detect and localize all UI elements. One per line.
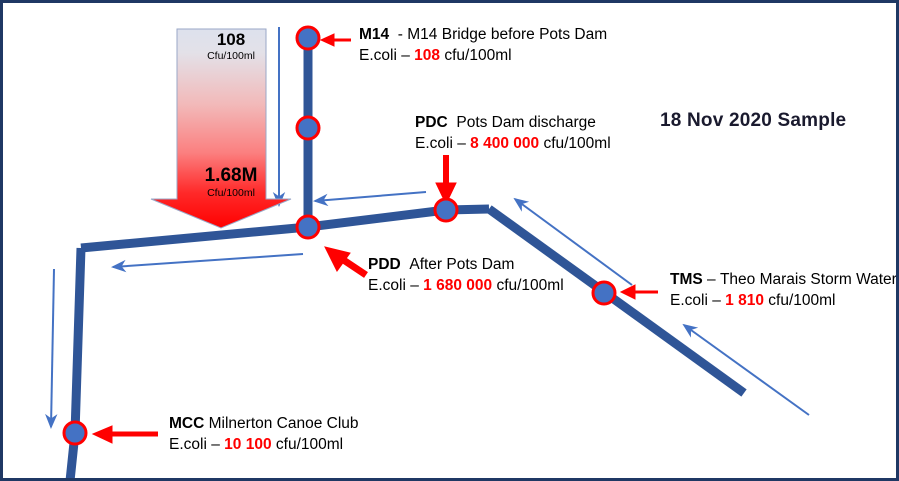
- ecoli-value-mcc: 10 100: [224, 436, 271, 453]
- ecoli-label-m14: E.coli: [359, 47, 397, 64]
- site-code-pdd: PDD: [368, 256, 401, 273]
- site-label-mcc: MCC Milnerton Canoe Club E.coli – 10 100…: [169, 414, 359, 456]
- site-code-mcc: MCC: [169, 415, 204, 432]
- river-network-diagram: [3, 3, 899, 481]
- ecoli-value-pdd: 1 680 000: [423, 277, 492, 294]
- pointer-arrow-m14: [321, 34, 351, 46]
- ecoli-unit-pdc: cfu/100ml: [543, 135, 610, 152]
- site-code-tms: TMS: [670, 271, 703, 288]
- site-code-m14: M14: [359, 26, 389, 43]
- diagram-canvas: 108 Cfu/100ml 1.68M Cfu/100ml 18 Nov 202…: [0, 0, 899, 481]
- site-desc-pdc: Pots Dam discharge: [456, 114, 596, 131]
- ecoli-dash-m14: –: [401, 47, 410, 64]
- site-node-midstream[interactable]: [297, 117, 319, 139]
- ecoli-dash-tms: –: [712, 292, 721, 309]
- ecoli-label-mcc: E.coli: [169, 436, 207, 453]
- flow-arrow-west-descent: [51, 269, 54, 427]
- river-segment-main-west: [81, 227, 308, 248]
- concentration-gradient-arrow: [151, 29, 291, 228]
- flow-arrow-southeast-lower: [684, 325, 809, 415]
- flow-direction-arrows: [51, 27, 809, 427]
- flow-arrow-upper-main: [315, 192, 426, 201]
- site-node-tms[interactable]: [593, 282, 615, 304]
- ecoli-label-pdd: E.coli: [368, 277, 406, 294]
- site-label-mcc-name: MCC Milnerton Canoe Club: [169, 414, 359, 435]
- site-node-pdd[interactable]: [297, 216, 319, 238]
- site-code-pdc: PDC: [415, 114, 448, 131]
- ecoli-unit-m14: cfu/100ml: [444, 47, 511, 64]
- ecoli-label-tms: E.coli: [670, 292, 708, 309]
- ecoli-dash-pdd: –: [410, 277, 419, 294]
- site-desc-pdd: After Pots Dam: [409, 256, 514, 273]
- site-label-pdd: PDD After Pots Dam E.coli – 1 680 000 cf…: [368, 255, 564, 297]
- flow-arrow-west-main: [113, 254, 303, 267]
- site-label-pdc-ecoli: E.coli – 8 400 000 cfu/100ml: [415, 134, 611, 155]
- pointer-arrow-pdd: [325, 247, 366, 275]
- pointer-arrow-pdc: [436, 155, 456, 204]
- site-label-m14-ecoli: E.coli – 108 cfu/100ml: [359, 46, 607, 67]
- ecoli-unit-tms: cfu/100ml: [768, 292, 835, 309]
- ecoli-value-m14: 108: [414, 47, 440, 64]
- river-segment-main-east: [308, 209, 489, 227]
- site-node-m14[interactable]: [297, 27, 319, 49]
- ecoli-value-tms: 1 810: [725, 292, 764, 309]
- page-title: 18 Nov 2020 Sample: [660, 110, 846, 132]
- site-sep-tms: –: [707, 271, 716, 288]
- site-label-tms-ecoli: E.coli – 1 810 cfu/100ml: [670, 291, 897, 312]
- site-desc-mcc: Milnerton Canoe Club: [209, 415, 359, 432]
- pointer-arrow-mcc: [93, 426, 158, 443]
- site-desc-tms: Theo Marais Storm Water: [720, 271, 897, 288]
- site-node-pdc[interactable]: [435, 199, 457, 221]
- site-label-pdc-name: PDC Pots Dam discharge: [415, 113, 611, 134]
- ecoli-dash-pdc: –: [457, 135, 466, 152]
- site-node-mcc[interactable]: [64, 422, 86, 444]
- ecoli-label-pdc: E.coli: [415, 135, 453, 152]
- site-label-mcc-ecoli: E.coli – 10 100 cfu/100ml: [169, 435, 359, 456]
- site-desc-m14: M14 Bridge before Pots Dam: [407, 26, 607, 43]
- ecoli-unit-mcc: cfu/100ml: [276, 436, 343, 453]
- river-segment-west-descent: [70, 248, 81, 481]
- pointer-arrow-tms: [621, 285, 658, 299]
- ecoli-value-pdc: 8 400 000: [470, 135, 539, 152]
- site-label-pdd-ecoli: E.coli – 1 680 000 cfu/100ml: [368, 276, 564, 297]
- site-label-tms-name: TMS – Theo Marais Storm Water: [670, 270, 897, 291]
- site-label-m14: M14 - M14 Bridge before Pots Dam E.coli …: [359, 25, 607, 67]
- site-label-tms: TMS – Theo Marais Storm Water E.coli – 1…: [670, 270, 897, 312]
- site-label-pdd-name: PDD After Pots Dam: [368, 255, 564, 276]
- site-label-pdc: PDC Pots Dam discharge E.coli – 8 400 00…: [415, 113, 611, 155]
- ecoli-dash-mcc: –: [211, 436, 220, 453]
- site-label-m14-name: M14 - M14 Bridge before Pots Dam: [359, 25, 607, 46]
- ecoli-unit-pdd: cfu/100ml: [496, 277, 563, 294]
